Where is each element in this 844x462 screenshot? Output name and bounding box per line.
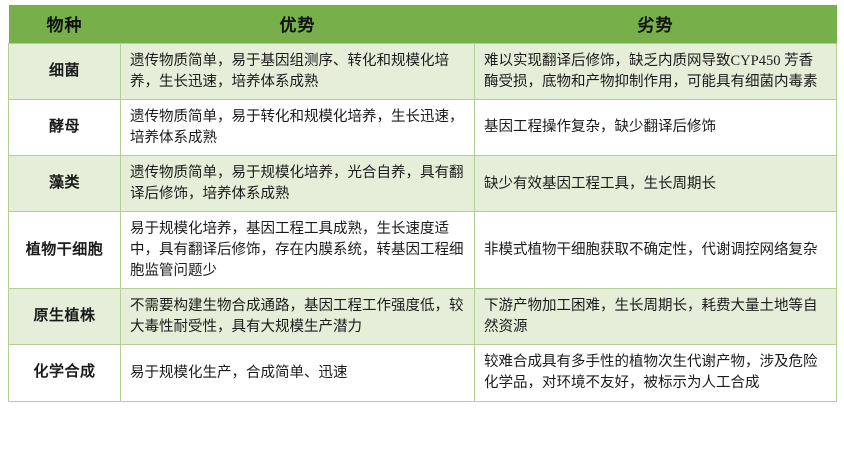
cell-species: 植物干细胞 (9, 212, 121, 289)
cell-species: 藻类 (9, 156, 121, 212)
cell-disadvantage: 下游产物加工困难，生长周期长，耗费大量土地等自然资源 (475, 289, 837, 345)
table-row: 化学合成 易于规模化生产，合成简单、迅速 较难合成具有多手性的植物次生代谢产物，… (9, 345, 837, 401)
cell-species: 原生植株 (9, 289, 121, 345)
cell-species: 细菌 (9, 44, 121, 100)
column-header-advantage: 优势 (121, 5, 475, 44)
cell-advantage: 易于规模化生产，合成简单、迅速 (121, 345, 475, 401)
header-row: 物种 优势 劣势 (9, 5, 837, 44)
table-row: 酵母 遗传物质简单，易于转化和规模化培养，生长迅速，培养体系成熟 基因工程操作复… (9, 100, 837, 156)
cell-advantage: 遗传物质简单，易于规模化培养，光合自养，具有翻译后修饰，培养体系成熟 (121, 156, 475, 212)
column-header-disadvantage: 劣势 (475, 5, 837, 44)
cell-advantage: 遗传物质简单，易于基因组测序、转化和规模化培养，生长迅速，培养体系成熟 (121, 44, 475, 100)
species-comparison-table: 物种 优势 劣势 细菌 遗传物质简单，易于基因组测序、转化和规模化培养，生长迅速… (8, 5, 837, 402)
cell-species: 酵母 (9, 100, 121, 156)
table-row: 植物干细胞 易于规模化培养，基因工程工具成熟，生长速度适中，具有翻译后修饰，存在… (9, 212, 837, 289)
table-body: 细菌 遗传物质简单，易于基因组测序、转化和规模化培养，生长迅速，培养体系成熟 难… (9, 44, 837, 402)
cell-disadvantage: 非模式植物干细胞获取不确定性，代谢调控网络复杂 (475, 212, 837, 289)
table-row: 原生植株 不需要构建生物合成通路，基因工程工作强度低，较大毒性耐受性，具有大规模… (9, 289, 837, 345)
cell-disadvantage: 难以实现翻译后修饰，缺乏内质网导致CYP450 芳香酶受损，底物和产物抑制作用，… (475, 44, 837, 100)
cell-advantage: 遗传物质简单，易于转化和规模化培养，生长迅速，培养体系成熟 (121, 100, 475, 156)
comparison-table-container: 物种 优势 劣势 细菌 遗传物质简单，易于基因组测序、转化和规模化培养，生长迅速… (8, 5, 836, 402)
column-header-species: 物种 (9, 5, 121, 44)
cell-disadvantage: 缺少有效基因工程工具，生长周期长 (475, 156, 837, 212)
cell-species: 化学合成 (9, 345, 121, 401)
cell-disadvantage: 基因工程操作复杂，缺少翻译后修饰 (475, 100, 837, 156)
cell-disadvantage: 较难合成具有多手性的植物次生代谢产物，涉及危险化学品，对环境不友好，被标示为人工… (475, 345, 837, 401)
cell-advantage: 不需要构建生物合成通路，基因工程工作强度低，较大毒性耐受性，具有大规模生产潜力 (121, 289, 475, 345)
table-row: 细菌 遗传物质简单，易于基因组测序、转化和规模化培养，生长迅速，培养体系成熟 难… (9, 44, 837, 100)
table-row: 藻类 遗传物质简单，易于规模化培养，光合自养，具有翻译后修饰，培养体系成熟 缺少… (9, 156, 837, 212)
table-header: 物种 优势 劣势 (9, 5, 837, 44)
cell-advantage: 易于规模化培养，基因工程工具成熟，生长速度适中，具有翻译后修饰，存在内膜系统，转… (121, 212, 475, 289)
